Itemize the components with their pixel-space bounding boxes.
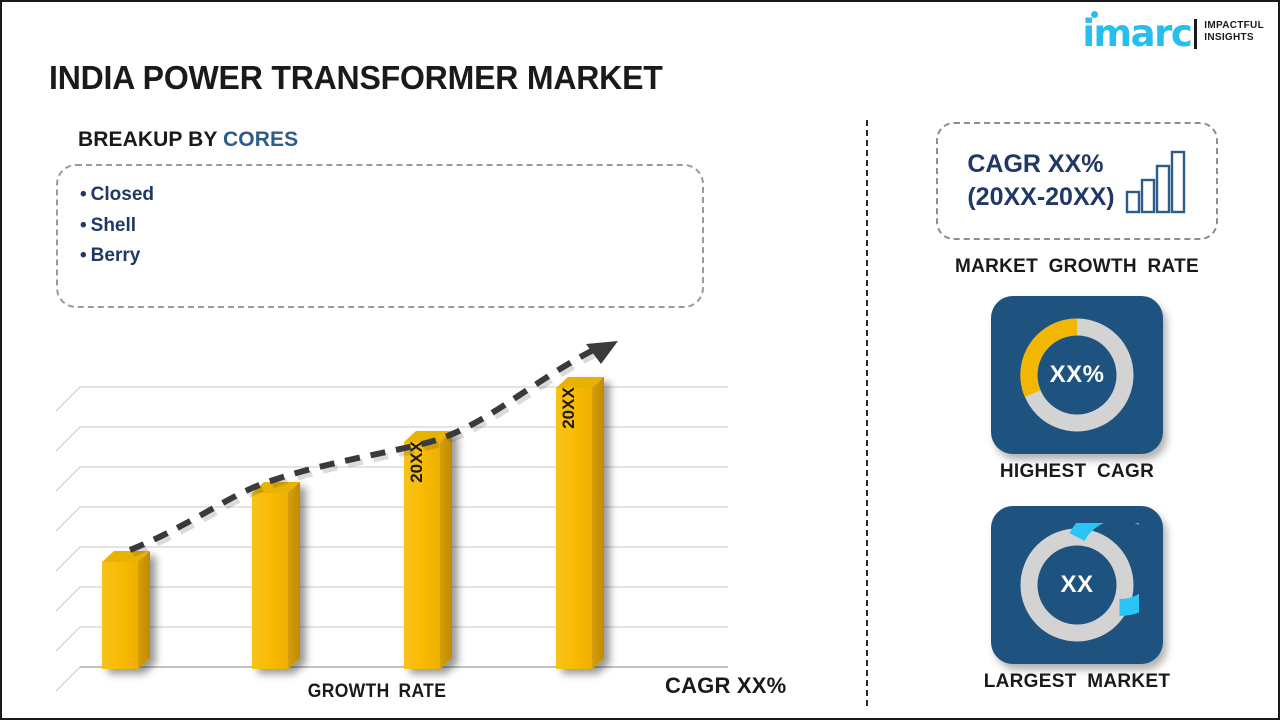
breakup-list-box: •Closed •Shell •Berry xyxy=(56,164,704,308)
bar-value-label: 20XX xyxy=(559,387,578,429)
breakup-heading-prefix: BREAKUP BY xyxy=(78,128,223,151)
bullet-icon: • xyxy=(80,245,87,266)
largest-market-donut: XX xyxy=(991,506,1163,664)
logo-wordmark: imarc xyxy=(1082,14,1191,54)
donut-center-value: XX xyxy=(1060,571,1093,599)
logo-wordmark-text: imarc xyxy=(1082,12,1191,55)
growth-rate-bar-chart: 20XX 20XX CAGR XX% xyxy=(52,332,752,712)
list-item-label: Closed xyxy=(91,184,154,205)
breakup-heading-accent: CORES xyxy=(223,128,298,151)
market-growth-rate-label: MARKET GROWTH RATE xyxy=(917,256,1237,278)
logo-tagline-line1: IMPACTFUL xyxy=(1204,20,1264,32)
logo-tagline-line2: INSIGHTS xyxy=(1204,32,1264,44)
bullet-icon: • xyxy=(80,215,87,236)
chart-depth-edges xyxy=(56,387,80,691)
highest-cagr-label: HIGHEST CAGR xyxy=(917,461,1237,483)
chart-bar xyxy=(252,482,300,669)
chart-trendline xyxy=(130,341,618,554)
page-title: INDIA POWER TRANSFORMER MARKET xyxy=(49,59,663,97)
highest-cagr-card: XX% xyxy=(991,296,1163,454)
list-item-label: Shell xyxy=(91,215,136,236)
cagr-summary-text: CAGR XX% (20XX-20XX) xyxy=(967,148,1114,214)
cagr-summary-line2: (20XX-20XX) xyxy=(967,181,1114,214)
logo-tagline: IMPACTFUL INSIGHTS xyxy=(1204,20,1264,44)
cagr-summary-line1: CAGR XX% xyxy=(967,148,1114,181)
chart-bar xyxy=(102,551,150,669)
highest-cagr-donut: XX% xyxy=(991,296,1163,454)
infographic-page: imarc IMPACTFUL INSIGHTS INDIA POWER TRA… xyxy=(0,0,1280,720)
section-divider xyxy=(866,120,868,706)
cagr-summary-box: CAGR XX% (20XX-20XX) xyxy=(936,122,1218,240)
list-item: •Closed xyxy=(80,180,702,211)
list-item: •Berry xyxy=(80,241,702,272)
bar-chart-svg: 20XX 20XX xyxy=(52,332,752,712)
breakup-heading: BREAKUP BY CORES xyxy=(78,128,298,152)
list-item: •Shell xyxy=(80,211,702,242)
bar-chart-icon xyxy=(1125,148,1187,214)
bullet-icon: • xyxy=(80,184,87,205)
logo-divider xyxy=(1194,19,1197,49)
list-item-label: Berry xyxy=(91,245,141,266)
largest-market-label: LARGEST MARKET xyxy=(917,671,1237,693)
chart-xaxis-label: GROWTH RATE xyxy=(32,681,722,703)
largest-market-card: XX xyxy=(991,506,1163,664)
imarc-logo: imarc IMPACTFUL INSIGHTS xyxy=(1082,14,1264,56)
donut-center-value: XX% xyxy=(1050,361,1105,389)
